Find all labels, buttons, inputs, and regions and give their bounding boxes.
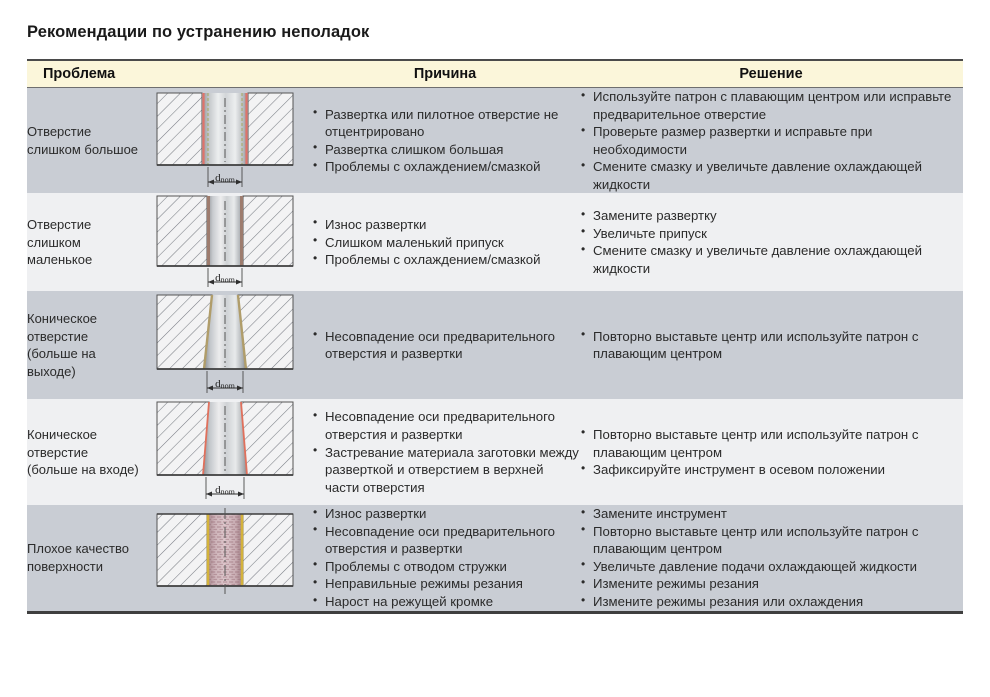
list-item: Зафиксируйте инструмент в осевом положен… <box>579 461 963 479</box>
list-item: Повторно выставьте центр или используйте… <box>579 523 963 558</box>
list-item: Слишком маленький припуск <box>311 234 579 252</box>
list-item: Проблемы с охлаждением/смазкой <box>311 158 579 176</box>
problem-label: Коническое отверстие (больше на выходе) <box>27 291 139 399</box>
list-item: Измените режимы резания <box>579 575 963 593</box>
problem-label: Коническое отверстие (больше на входе) <box>27 399 139 505</box>
tapered-hole-wider-at-entry-diagram: dnom <box>139 399 311 505</box>
cause-list-cell: Износ развертки Несовпадение оси предвар… <box>311 505 579 612</box>
column-header-solution: Решение <box>579 60 963 88</box>
cause-list-cell: Износ развертки Слишком маленький припус… <box>311 193 579 291</box>
rough-bore-figure <box>145 506 305 610</box>
list-item: Развертка слишком большая <box>311 141 579 159</box>
list-item: Несовпадение оси предварительного отверс… <box>311 523 579 558</box>
list-item: Износ развертки <box>311 216 579 234</box>
solution-list: Используйте патрон с плавающим центром и… <box>579 88 963 193</box>
table-body: Отверстие слишком большое <box>27 88 963 613</box>
cause-list: Износ развертки Слишком маленький припус… <box>311 216 579 269</box>
problem-label: Плохое качество поверхности <box>27 505 139 612</box>
hole-too-large-diagram: dnom <box>139 88 311 194</box>
dimension-label-dnom: dnom <box>215 484 236 497</box>
table-header-row: Проблема Причина Решение <box>27 60 963 88</box>
problem-label: Отверстие слишком большое <box>27 88 139 194</box>
table-row: Коническое отверстие (больше на входе) <box>27 399 963 505</box>
hole-too-small-diagram: dnom <box>139 193 311 291</box>
table-row: Коническое отверстие (больше на выходе) <box>27 291 963 399</box>
solution-list-cell: Повторно выставьте центр или используйте… <box>579 291 963 399</box>
list-item: Развертка или пилотное отверстие не отце… <box>311 106 579 141</box>
solution-list-cell: Замените инструмент Повторно выставьте ц… <box>579 505 963 612</box>
list-item: Застревание материала заготовки между ра… <box>311 444 579 497</box>
list-item: Измените режимы резания или охлаждения <box>579 593 963 611</box>
solution-list-cell: Используйте патрон с плавающим центром и… <box>579 88 963 194</box>
table-row: Отверстие слишком маленькое <box>27 193 963 291</box>
solution-list-cell: Замените развертку Увеличьте припуск Сме… <box>579 193 963 291</box>
list-item: Повторно выставьте центр или используйте… <box>579 426 963 461</box>
solution-list: Замените развертку Увеличьте припуск Сме… <box>579 207 963 277</box>
taper-entry-figure: dnom <box>145 399 305 505</box>
list-item: Проверьте размер развертки и исправьте п… <box>579 123 963 158</box>
problem-label: Отверстие слишком маленькое <box>27 193 139 291</box>
troubleshooting-table: Проблема Причина Решение Отверстие слишк… <box>27 59 963 614</box>
list-item: Увеличьте давление подачи охлаждающей жи… <box>579 558 963 576</box>
solution-list: Повторно выставьте центр или используйте… <box>579 328 963 363</box>
column-header-problem: Проблема <box>27 60 311 88</box>
table-header: Проблема Причина Решение <box>27 60 963 88</box>
page-title: Рекомендации по устранению неполадок <box>27 23 369 42</box>
cause-list: Несовпадение оси предварительного отверс… <box>311 408 579 496</box>
cause-list-cell: Развертка или пилотное отверстие не отце… <box>311 88 579 194</box>
cause-list: Развертка или пилотное отверстие не отце… <box>311 106 579 176</box>
solution-list: Замените инструмент Повторно выставьте ц… <box>579 505 963 610</box>
list-item: Проблемы с охлаждением/смазкой <box>311 251 579 269</box>
column-header-cause: Причина <box>311 60 579 88</box>
cause-list: Несовпадение оси предварительного отверс… <box>311 328 579 363</box>
list-item: Проблемы с отводом стружки <box>311 558 579 576</box>
solution-list: Повторно выставьте центр или используйте… <box>579 426 963 479</box>
tapered-hole-wider-at-exit-diagram: dnom <box>139 291 311 399</box>
list-item: Несовпадение оси предварительного отверс… <box>311 408 579 443</box>
list-item: Увеличьте припуск <box>579 225 963 243</box>
cause-list-cell: Несовпадение оси предварительного отверс… <box>311 291 579 399</box>
table-row: Плохое качество поверхности <box>27 505 963 612</box>
list-item: Используйте патрон с плавающим центром и… <box>579 88 963 123</box>
straight-hole-small-figure: dnom <box>145 193 305 291</box>
cause-list-cell: Несовпадение оси предварительного отверс… <box>311 399 579 505</box>
list-item: Смените смазку и увеличьте давление охла… <box>579 158 963 193</box>
dimension-label-dnom: dnom <box>215 172 236 185</box>
list-item: Нарост на режущей кромке <box>311 593 579 611</box>
list-item: Смените смазку и увеличьте давление охла… <box>579 242 963 277</box>
cause-list: Износ развертки Несовпадение оси предвар… <box>311 505 579 610</box>
straight-hole-figure: dnom <box>145 90 305 192</box>
list-item: Замените инструмент <box>579 505 963 523</box>
list-item: Износ развертки <box>311 505 579 523</box>
solution-list-cell: Повторно выставьте центр или используйте… <box>579 399 963 505</box>
dimension-label-dnom: dnom <box>215 272 236 285</box>
dimension-label-dnom: dnom <box>215 378 236 391</box>
table-row: Отверстие слишком большое <box>27 88 963 194</box>
taper-exit-figure: dnom <box>145 291 305 399</box>
list-item: Неправильные режимы резания <box>311 575 579 593</box>
list-item: Замените развертку <box>579 207 963 225</box>
list-item: Несовпадение оси предварительного отверс… <box>311 328 579 363</box>
poor-surface-finish-diagram <box>139 505 311 612</box>
list-item: Повторно выставьте центр или используйте… <box>579 328 963 363</box>
